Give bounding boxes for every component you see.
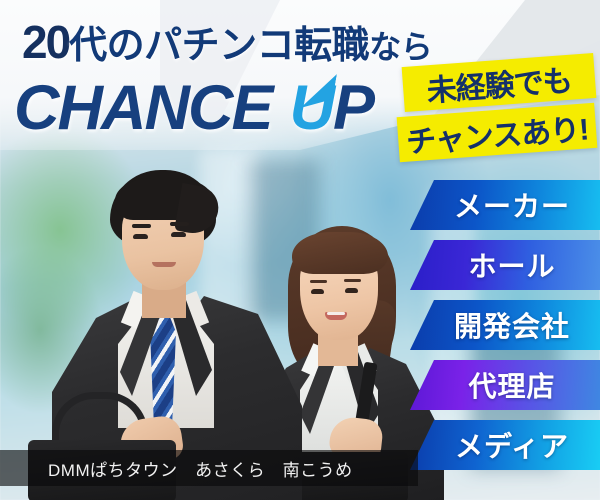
woman-eye-left	[311, 289, 324, 294]
menu-item-agency[interactable]: 代理店	[410, 360, 600, 410]
brand-logo: CHANCEUP	[14, 72, 373, 144]
menu-item-maker[interactable]: メーカー	[410, 180, 600, 230]
menu-item-label: メーカー	[440, 185, 570, 225]
menu-item-label: ホール	[454, 245, 555, 285]
woman-eyebrow-right	[344, 279, 361, 282]
menu-item-label: 開発会社	[440, 305, 570, 345]
menu-item-media[interactable]: メディア	[410, 420, 600, 470]
menu-item-development-company[interactable]: 開発会社	[410, 300, 600, 350]
logo-chance: CHANCE	[14, 73, 272, 143]
headline-body: 代のパチンコ転職	[69, 25, 369, 67]
credits-text: DMMぱちタウン あさくら 南こうめ	[0, 456, 353, 481]
man-eyebrow-right	[170, 222, 189, 226]
credits-bar: DMMぱちタウン あさくら 南こうめ	[0, 450, 418, 486]
woman-teeth	[327, 312, 345, 315]
promo-banner: 20代のパチンコ転職なら CHANCEUP 未経験でも チャンスあり! メーカー…	[0, 0, 600, 500]
man-eye-left	[133, 234, 148, 239]
woman-fringe	[292, 232, 388, 274]
headline-number: 20	[22, 16, 69, 68]
headline-tail: なら	[369, 29, 432, 65]
man-mouth	[152, 262, 176, 267]
logo-p: P	[333, 73, 373, 143]
woman-eye-right	[345, 288, 358, 293]
woman-eyebrow-left	[310, 280, 327, 283]
logo-u: U	[290, 72, 334, 144]
menu-item-label: 代理店	[454, 365, 555, 405]
man-eyebrow-left	[132, 224, 151, 228]
category-menu: メーカー ホール 開発会社 代理店 メディア	[410, 180, 600, 480]
menu-item-label: メディア	[441, 425, 569, 465]
menu-item-hall[interactable]: ホール	[410, 240, 600, 290]
page-title: 20代のパチンコ転職なら	[22, 14, 432, 69]
man-eye-right	[171, 232, 186, 237]
